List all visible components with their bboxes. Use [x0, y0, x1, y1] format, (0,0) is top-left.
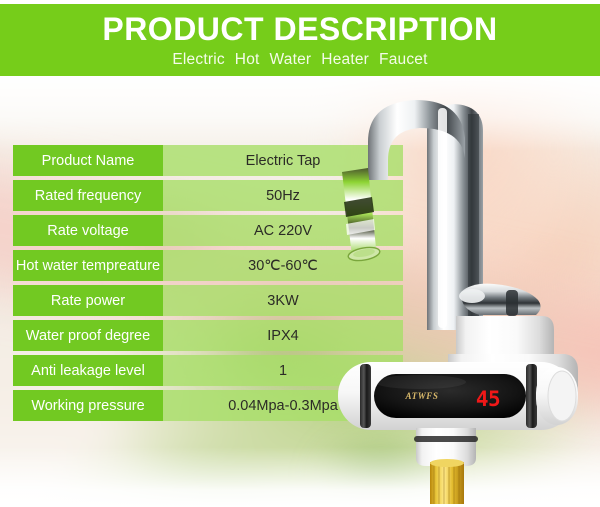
brand-label: ATWFS: [404, 391, 438, 401]
spec-label: Water proof degree: [13, 320, 163, 351]
faucet-end-cap-face: [548, 371, 576, 421]
faucet-riser-highlight: [438, 108, 447, 328]
subtitle-word: Water: [270, 51, 312, 68]
product-description-page: PRODUCT DESCRIPTION ElectricHotWaterHeat…: [0, 0, 600, 507]
faucet-handle-shadow: [506, 290, 518, 316]
faucet-lower-ring: [414, 436, 478, 442]
subtitle-word: Faucet: [379, 51, 428, 68]
spec-label: Rated frequency: [13, 180, 163, 211]
spec-label: Working pressure: [13, 390, 163, 421]
subtitle-word: Electric: [172, 51, 224, 68]
subtitle-word: Hot: [235, 51, 260, 68]
spec-label: Hot water tempreature: [13, 250, 163, 281]
spec-label: Rate voltage: [13, 215, 163, 246]
product-faucet-image: ATWFS 45: [330, 84, 600, 507]
spec-label: Anti leakage level: [13, 355, 163, 386]
page-title: PRODUCT DESCRIPTION: [102, 13, 497, 47]
brass-top-edge: [430, 459, 464, 467]
faucet-ring-left: [360, 364, 371, 428]
page-subtitle: ElectricHotWaterHeaterFaucet: [172, 51, 427, 69]
subtitle-word: Heater: [321, 51, 369, 68]
faucet-handle-highlight: [459, 289, 485, 303]
header-banner: PRODUCT DESCRIPTION ElectricHotWaterHeat…: [0, 4, 600, 76]
spec-label: Product Name: [13, 145, 163, 176]
temperature-readout: 45: [476, 387, 500, 411]
led-panel-gloss: [374, 375, 466, 389]
faucet-ring-right: [526, 364, 537, 428]
spec-label: Rate power: [13, 285, 163, 316]
faucet-handle-base: [456, 316, 554, 358]
